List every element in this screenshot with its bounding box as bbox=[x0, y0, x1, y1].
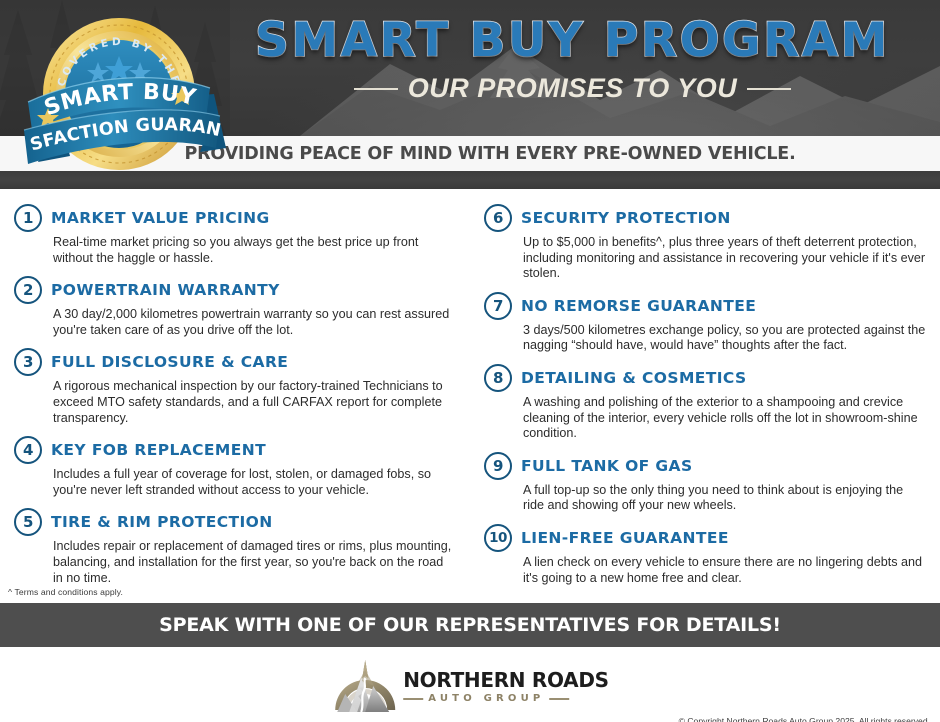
promise-title-8: DETAILING & COSMETICS bbox=[521, 369, 747, 387]
promise-header-8: 8 DETAILING & COSMETICS bbox=[484, 363, 926, 393]
promise-body-3: A rigorous mechanical inspection by our … bbox=[53, 379, 456, 426]
program-title: SMART BUY PROGRAM bbox=[205, 16, 940, 65]
promise-item-3: 3 FULL DISCLOSURE & CARE A rigorous mech… bbox=[14, 347, 456, 426]
subtitle-rule-left bbox=[354, 88, 398, 90]
promise-header-5: 5 TIRE & RIM PROTECTION bbox=[14, 507, 456, 537]
promises-content: 1 MARKET VALUE PRICING Real-time market … bbox=[0, 189, 940, 603]
promise-item-2: 2 POWERTRAIN WARRANTY A 30 day/2,000 kil… bbox=[14, 275, 456, 338]
promise-number-3: 3 bbox=[14, 348, 42, 376]
logo-tagline-row: AUTO GROUP bbox=[403, 694, 609, 704]
call-to-action-bar: SPEAK WITH ONE OF OUR REPRESENTATIVES FO… bbox=[0, 603, 940, 647]
logo-rule-right bbox=[549, 698, 569, 699]
promise-item-6: 6 SECURITY PROTECTION Up to $5,000 in be… bbox=[484, 203, 926, 282]
promise-item-10: 10 LIEN-FREE GUARANTEE A lien check on e… bbox=[484, 523, 926, 586]
promise-title-3: FULL DISCLOSURE & CARE bbox=[51, 353, 288, 371]
promise-number-10: 10 bbox=[484, 524, 512, 552]
northern-roads-logo: NORTHERN ROADS AUTO GROUP bbox=[331, 656, 609, 718]
smart-buy-satisfaction-guarantee-badge: COVERED BY THE SMART BUY SATISFACTION GU… bbox=[14, 6, 239, 176]
promise-number-6: 6 bbox=[484, 204, 512, 232]
promise-header-7: 7 NO REMORSE GUARANTEE bbox=[484, 291, 926, 321]
promise-header-4: 4 KEY FOB REPLACEMENT bbox=[14, 435, 456, 465]
promise-number-7: 7 bbox=[484, 292, 512, 320]
promise-body-5: Includes repair or replacement of damage… bbox=[53, 539, 456, 586]
promise-number-4: 4 bbox=[14, 436, 42, 464]
promise-body-4: Includes a full year of coverage for los… bbox=[53, 467, 456, 498]
promises-columns: 1 MARKET VALUE PRICING Real-time market … bbox=[0, 203, 940, 595]
promise-body-10: A lien check on every vehicle to ensure … bbox=[523, 555, 926, 586]
logo-tagline: AUTO GROUP bbox=[428, 694, 544, 704]
promise-header-3: 3 FULL DISCLOSURE & CARE bbox=[14, 347, 456, 377]
promise-title-9: FULL TANK OF GAS bbox=[521, 457, 693, 475]
promise-number-9: 9 bbox=[484, 452, 512, 480]
promise-title-5: TIRE & RIM PROTECTION bbox=[51, 513, 273, 531]
promise-number-5: 5 bbox=[14, 508, 42, 536]
logo-text-block: NORTHERN ROADS AUTO GROUP bbox=[403, 670, 609, 704]
call-to-action-text: SPEAK WITH ONE OF OUR REPRESENTATIVES FO… bbox=[159, 614, 781, 636]
copyright-text: © Copyright Northern Roads Auto Group 20… bbox=[679, 716, 930, 722]
promise-body-7: 3 days/500 kilometres exchange policy, s… bbox=[523, 323, 926, 354]
promise-body-6: Up to $5,000 in benefits^, plus three ye… bbox=[523, 235, 926, 282]
subtitle-rule-right bbox=[747, 88, 791, 90]
promise-item-4: 4 KEY FOB REPLACEMENT Includes a full ye… bbox=[14, 435, 456, 498]
promise-item-5: 5 TIRE & RIM PROTECTION Includes repair … bbox=[14, 507, 456, 586]
promise-number-2: 2 bbox=[14, 276, 42, 304]
promise-item-9: 9 FULL TANK OF GAS A full top-up so the … bbox=[484, 451, 926, 514]
promise-body-8: A washing and polishing of the exterior … bbox=[523, 395, 926, 442]
promise-title-1: MARKET VALUE PRICING bbox=[51, 209, 270, 227]
program-subtitle: OUR PROMISES TO YOU bbox=[408, 73, 738, 104]
smart-buy-program-poster: SMART BUY PROGRAM OUR PROMISES TO YOU PR… bbox=[0, 0, 940, 722]
promise-header-1: 1 MARKET VALUE PRICING bbox=[14, 203, 456, 233]
promises-column-right: 6 SECURITY PROTECTION Up to $5,000 in be… bbox=[470, 203, 940, 595]
logo-company-name: NORTHERN ROADS bbox=[403, 670, 609, 690]
poster-footer: NORTHERN ROADS AUTO GROUP © Copyright No… bbox=[0, 647, 940, 722]
promise-bar-text: PROVIDING PEACE OF MIND WITH EVERY PRE-O… bbox=[144, 144, 795, 164]
promise-body-9: A full top-up so the only thing you need… bbox=[523, 483, 926, 514]
subtitle-row: OUR PROMISES TO YOU bbox=[205, 73, 940, 104]
promise-header-9: 9 FULL TANK OF GAS bbox=[484, 451, 926, 481]
promise-number-8: 8 bbox=[484, 364, 512, 392]
header-title-block: SMART BUY PROGRAM OUR PROMISES TO YOU bbox=[205, 16, 940, 104]
promise-header-10: 10 LIEN-FREE GUARANTEE bbox=[484, 523, 926, 553]
promise-item-8: 8 DETAILING & COSMETICS A washing and po… bbox=[484, 363, 926, 442]
promise-title-2: POWERTRAIN WARRANTY bbox=[51, 281, 280, 299]
promise-title-7: NO REMORSE GUARANTEE bbox=[521, 297, 756, 315]
promise-item-1: 1 MARKET VALUE PRICING Real-time market … bbox=[14, 203, 456, 266]
promise-header-6: 6 SECURITY PROTECTION bbox=[484, 203, 926, 233]
promise-body-2: A 30 day/2,000 kilometres powertrain war… bbox=[53, 307, 456, 338]
promise-body-1: Real-time market pricing so you always g… bbox=[53, 235, 456, 266]
mountain-compass-logo-icon bbox=[331, 656, 399, 718]
logo-rule-left bbox=[403, 698, 423, 699]
promises-column-left: 1 MARKET VALUE PRICING Real-time market … bbox=[0, 203, 470, 595]
promise-item-7: 7 NO REMORSE GUARANTEE 3 days/500 kilome… bbox=[484, 291, 926, 354]
promise-title-4: KEY FOB REPLACEMENT bbox=[51, 441, 266, 459]
promise-header-2: 2 POWERTRAIN WARRANTY bbox=[14, 275, 456, 305]
terms-and-conditions-note: ^ Terms and conditions apply. bbox=[8, 587, 123, 597]
promise-number-1: 1 bbox=[14, 204, 42, 232]
promise-title-6: SECURITY PROTECTION bbox=[521, 209, 731, 227]
promise-title-10: LIEN-FREE GUARANTEE bbox=[521, 529, 729, 547]
